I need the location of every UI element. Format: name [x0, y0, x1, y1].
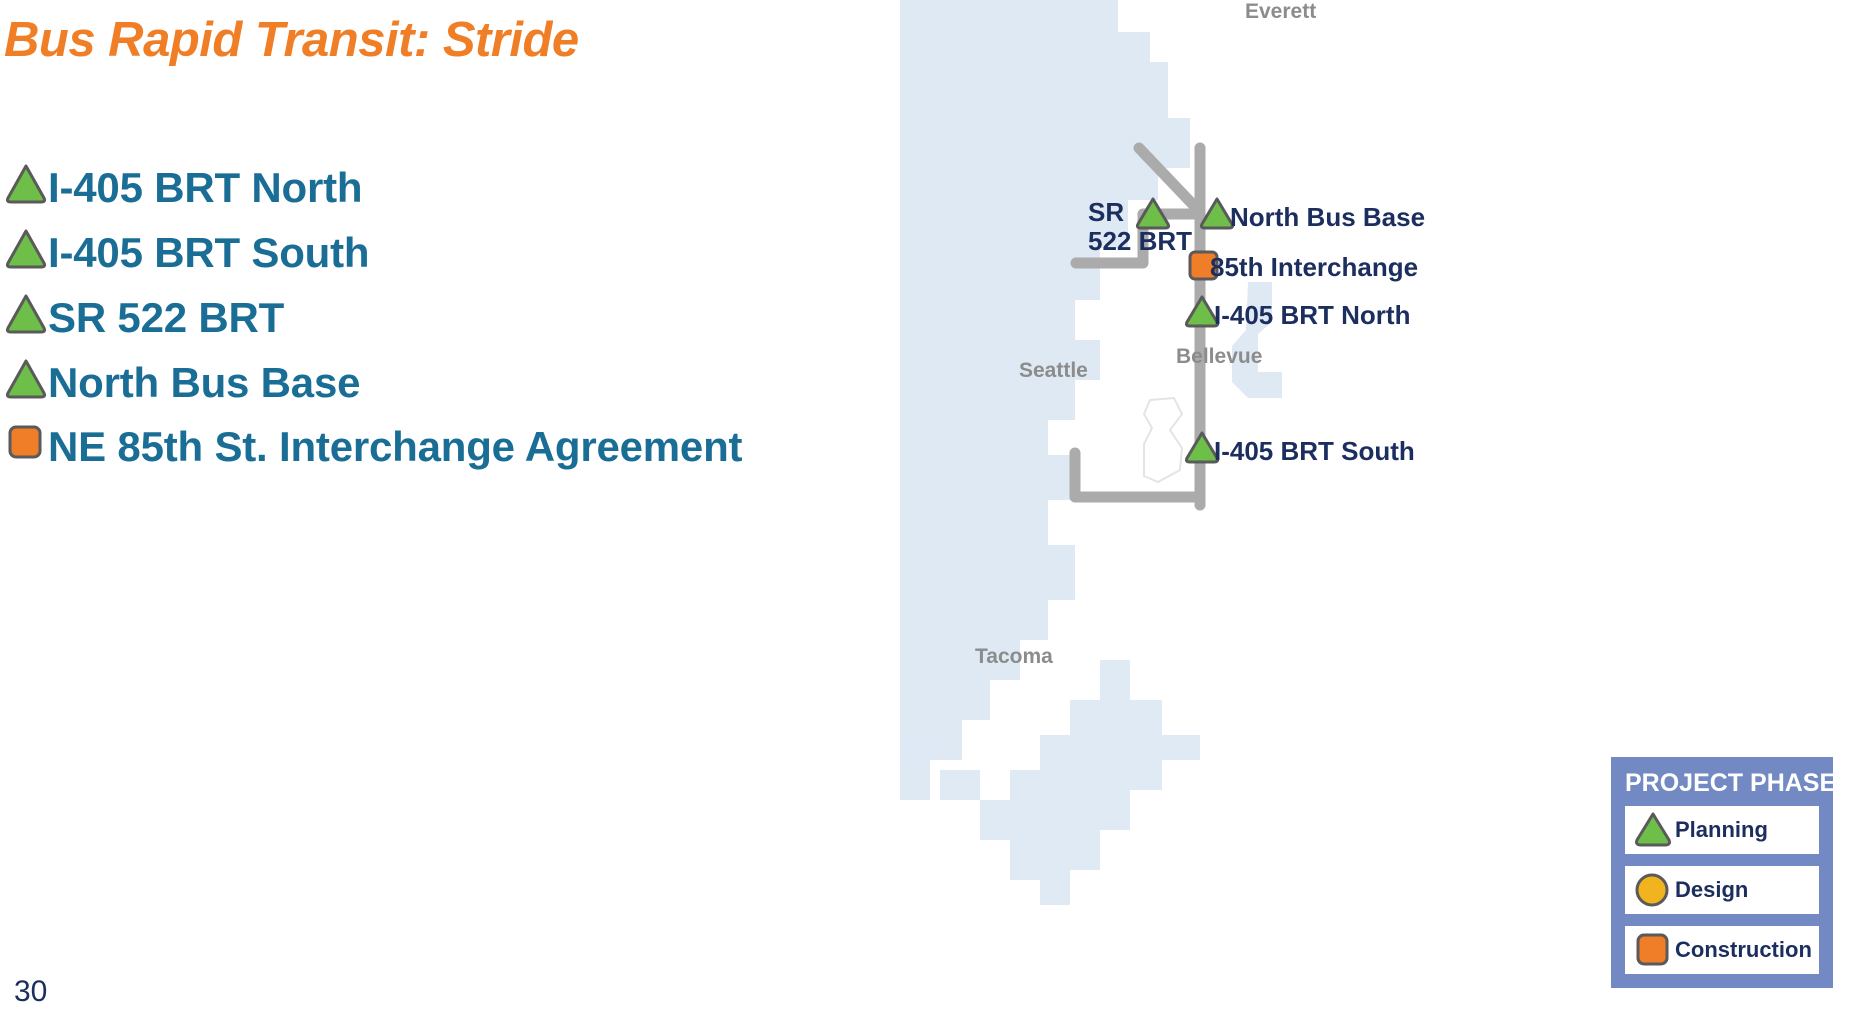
- legend-item-label: Planning: [1675, 817, 1768, 843]
- planning-triangle-icon: [4, 160, 48, 210]
- lake-washington-outline: [1144, 398, 1182, 482]
- map-marker-label-85th-interchange: 85th Interchange: [1210, 253, 1418, 282]
- list-item[interactable]: I-405 BRT North: [4, 160, 864, 216]
- list-item-label: SR 522 BRT: [48, 290, 864, 346]
- planning-triangle-icon: [4, 290, 48, 340]
- list-item[interactable]: SR 522 BRT: [4, 290, 864, 346]
- construction-square-icon: [1631, 928, 1675, 972]
- legend-item-construction[interactable]: Construction: [1625, 926, 1819, 974]
- map-marker-label-i405-brt-south: I-405 BRT South: [1214, 437, 1415, 466]
- page-number: 30: [14, 975, 47, 1009]
- puget-sound-water: [900, 0, 1190, 800]
- project-phase-legend: PROJECT PHASE Planning Design: [1611, 757, 1833, 988]
- map-marker-label-line-2: 522 BRT: [1088, 227, 1192, 256]
- planning-triangle-icon: [4, 355, 48, 405]
- map-marker-label-sr-522-brt: SR 522 BRT: [1088, 198, 1192, 256]
- project-bullet-list: I-405 BRT North I-405 BRT South SR: [4, 160, 864, 484]
- legend-item-planning[interactable]: Planning: [1625, 806, 1819, 854]
- list-item-label: North Bus Base: [48, 355, 864, 411]
- map-marker-label-north-bus-base: North Bus Base: [1230, 203, 1425, 232]
- legend-item-design[interactable]: Design: [1625, 866, 1819, 914]
- left-content-panel: Bus Rapid Transit: Stride I-405 BRT Nort…: [0, 0, 900, 1028]
- legend-item-label: Design: [1675, 877, 1748, 903]
- construction-square-icon: [4, 419, 48, 469]
- map-marker-label-i405-brt-north: I-405 BRT North: [1214, 301, 1410, 330]
- list-item[interactable]: North Bus Base: [4, 355, 864, 411]
- legend-title: PROJECT PHASE: [1611, 757, 1833, 806]
- page-title: Bus Rapid Transit: Stride: [4, 12, 884, 68]
- list-item-label: I-405 BRT North: [48, 160, 864, 216]
- map-marker-label-line-1: SR: [1088, 198, 1192, 227]
- list-item[interactable]: I-405 BRT South: [4, 225, 864, 281]
- list-item-label: NE 85th St. Interchange Agreement: [48, 419, 864, 475]
- city-label-tacoma: Tacoma: [975, 645, 1053, 669]
- slide-canvas: Bus Rapid Transit: Stride I-405 BRT Nort…: [0, 0, 1870, 1028]
- planning-triangle-icon: [1631, 808, 1675, 852]
- list-item[interactable]: NE 85th St. Interchange Agreement: [4, 419, 864, 475]
- legend-item-label: Construction: [1675, 937, 1812, 963]
- design-circle-icon: [1631, 868, 1675, 912]
- city-label-bellevue: Bellevue: [1176, 345, 1262, 369]
- planning-triangle-icon: [4, 225, 48, 275]
- city-label-everett: Everett: [1245, 0, 1316, 24]
- city-label-seattle: Seattle: [1019, 359, 1088, 383]
- list-item-label: I-405 BRT South: [48, 225, 864, 281]
